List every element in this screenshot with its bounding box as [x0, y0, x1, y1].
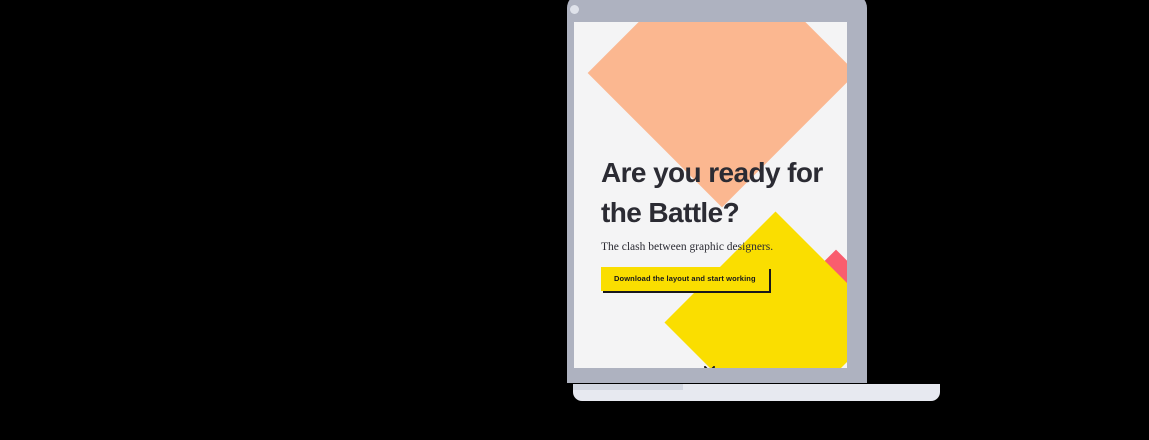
page-subtitle: The clash between graphic designers. — [601, 240, 841, 255]
hero-section: Are you ready for the Battle? The clash … — [574, 22, 847, 368]
laptop-base-notch — [573, 384, 683, 390]
download-layout-button[interactable]: Download the layout and start working — [601, 267, 769, 291]
canvas: Are you ready for the Battle? The clash … — [0, 0, 1149, 440]
page-title: Are you ready for the Battle? — [601, 153, 847, 233]
chevron-down-icon[interactable] — [700, 362, 718, 368]
laptop-screen: Are you ready for the Battle? The clash … — [574, 22, 847, 368]
laptop-mockup: Are you ready for the Battle? The clash … — [0, 0, 1149, 440]
webcam-dot — [570, 5, 579, 14]
